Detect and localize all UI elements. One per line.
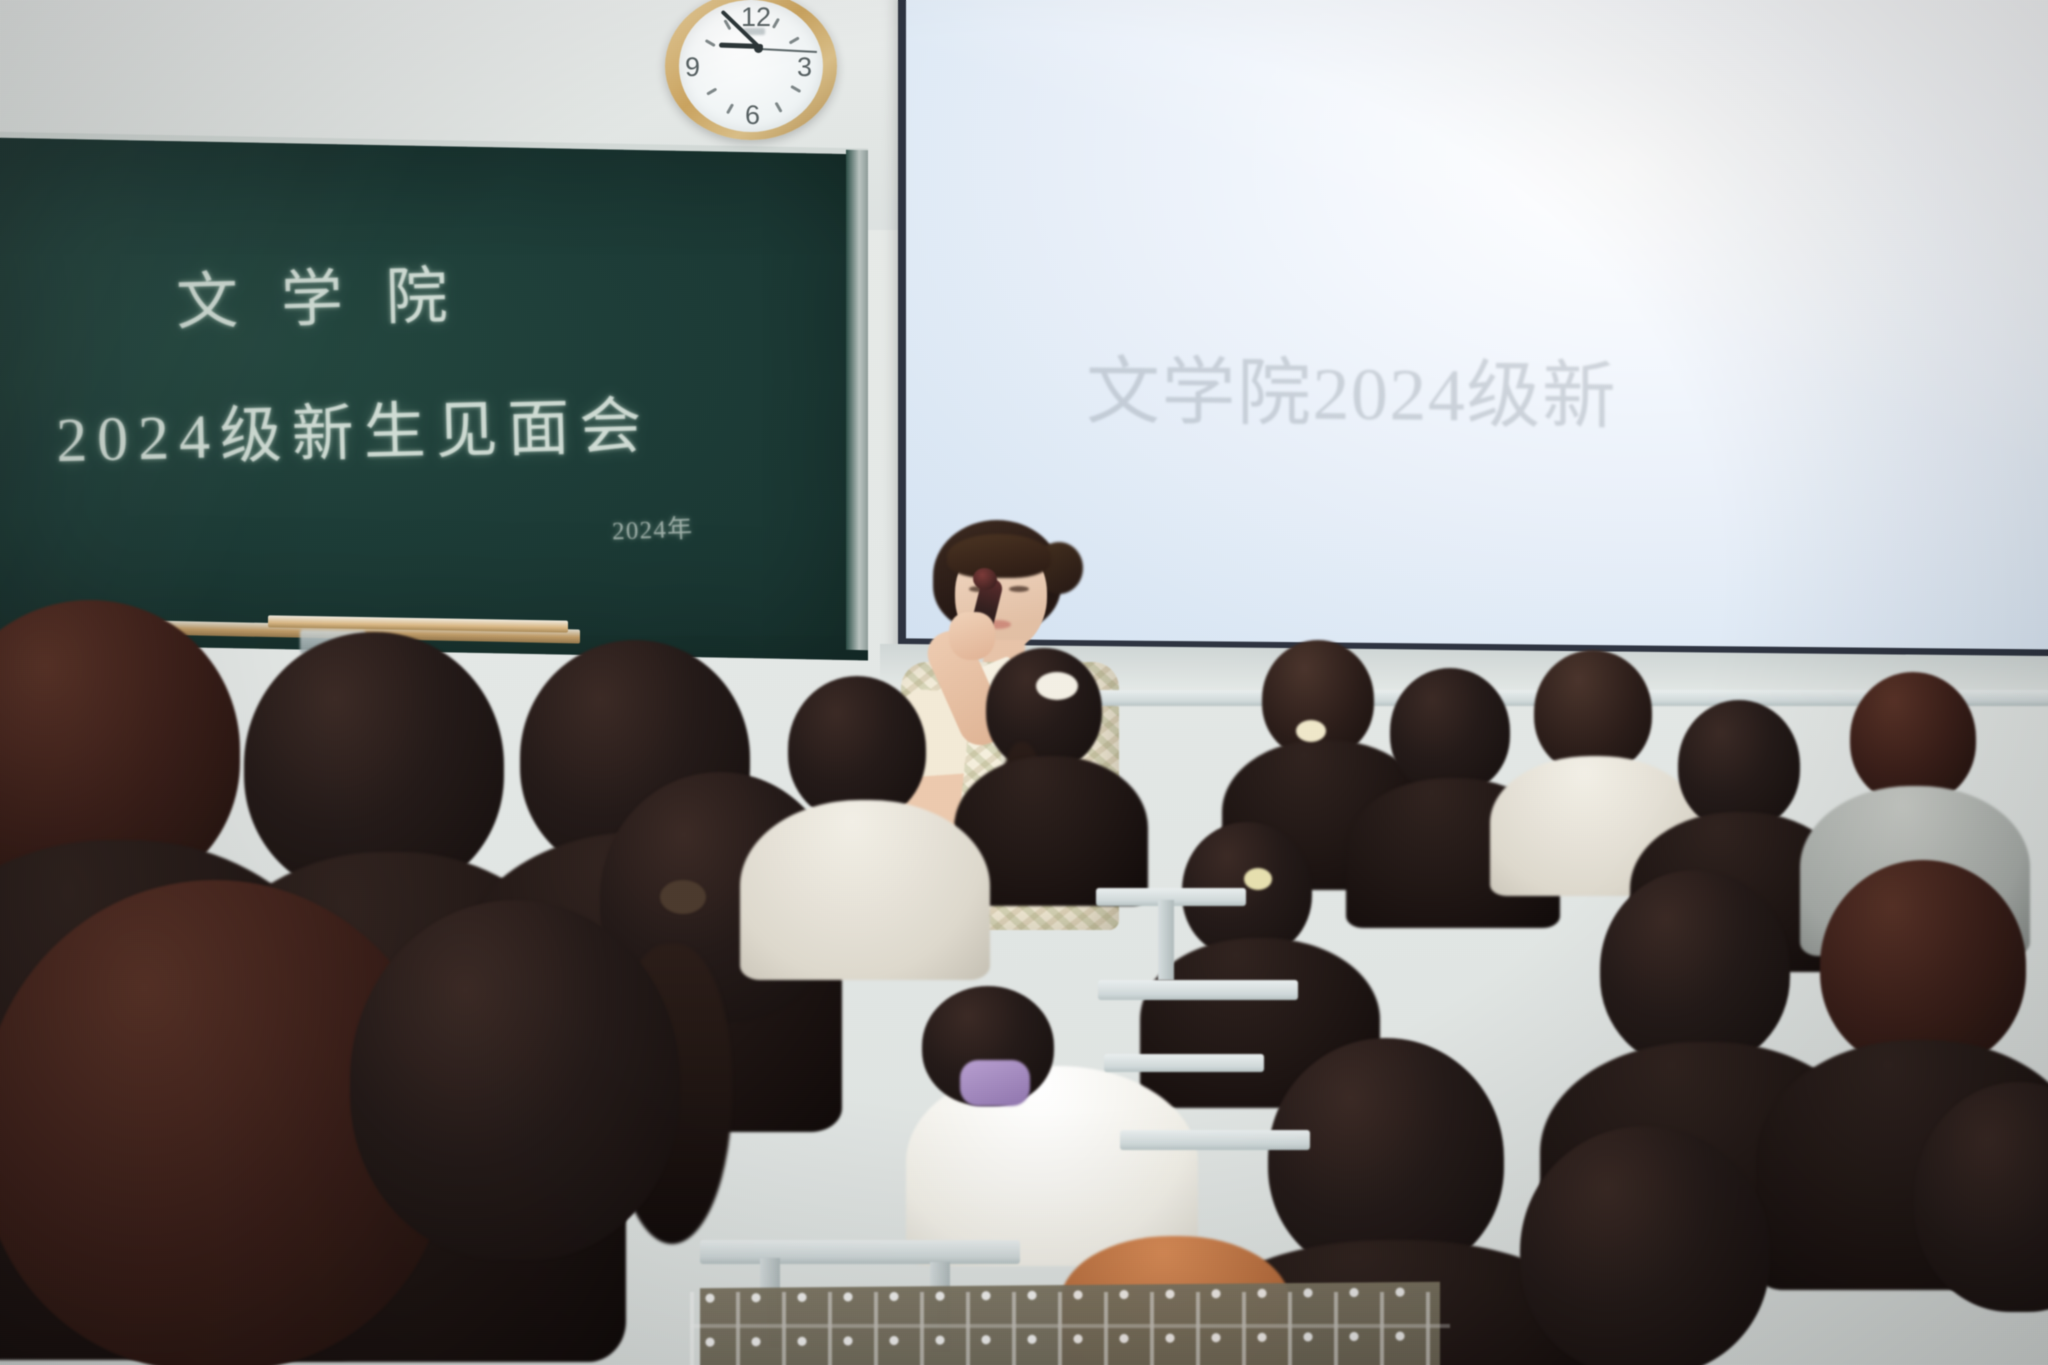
clock-tick xyxy=(772,18,780,29)
clock-second-hand xyxy=(757,48,817,53)
clock-tick xyxy=(726,103,734,114)
blackboard-title-line2: 2024级新生见面会 xyxy=(55,375,652,480)
hair-clip xyxy=(1296,720,1326,742)
clock-tick xyxy=(705,39,716,47)
student-shoulders xyxy=(740,800,990,980)
blackboard-right-edge xyxy=(846,150,868,650)
student-head-foreground xyxy=(350,900,680,1260)
clock-number-6: 6 xyxy=(745,100,760,131)
purple-strap xyxy=(960,1060,1030,1106)
student-head xyxy=(1600,870,1790,1068)
student-head xyxy=(1520,1126,1770,1365)
classroom-photo: 文 学 院 2024级新生见面会 2024年 文学院2024级新 12 3 6 … xyxy=(0,0,2048,1365)
teacher-hand xyxy=(949,612,995,660)
projector-slide-text: 文学院2024级新 xyxy=(1086,331,1617,443)
clock-face: 12 3 6 9 xyxy=(679,0,823,132)
clock-tick xyxy=(775,102,783,113)
floor-tile-pattern xyxy=(690,1292,1450,1365)
desk-edge xyxy=(1098,980,1298,1000)
clock-center-pin xyxy=(754,44,763,53)
hair-tie xyxy=(1036,672,1078,700)
clock-tick xyxy=(790,85,801,93)
hair-tie xyxy=(660,880,706,914)
hair-clip xyxy=(1244,868,1272,890)
student-head xyxy=(1820,860,2026,1070)
teacher-eye-right xyxy=(1009,586,1029,592)
student-head xyxy=(1850,672,1976,804)
clock-tick xyxy=(789,36,800,44)
clock-number-3: 3 xyxy=(797,52,812,83)
desk-edge xyxy=(700,1240,1020,1264)
desk-edge xyxy=(1120,1130,1310,1150)
student-head xyxy=(986,648,1102,770)
student-head xyxy=(1678,700,1800,830)
desk-leg xyxy=(1158,900,1174,980)
wall-clock: 12 3 6 9 xyxy=(665,0,837,140)
blackboard-date-note: 2024年 xyxy=(611,509,693,548)
desk-edge xyxy=(1104,1054,1264,1072)
clock-tick xyxy=(706,88,717,96)
teacher-bangs xyxy=(947,534,1051,578)
student-head xyxy=(1390,668,1510,794)
blackboard-title-line1: 文 学 院 xyxy=(175,245,462,342)
clock-number-9: 9 xyxy=(685,52,700,83)
